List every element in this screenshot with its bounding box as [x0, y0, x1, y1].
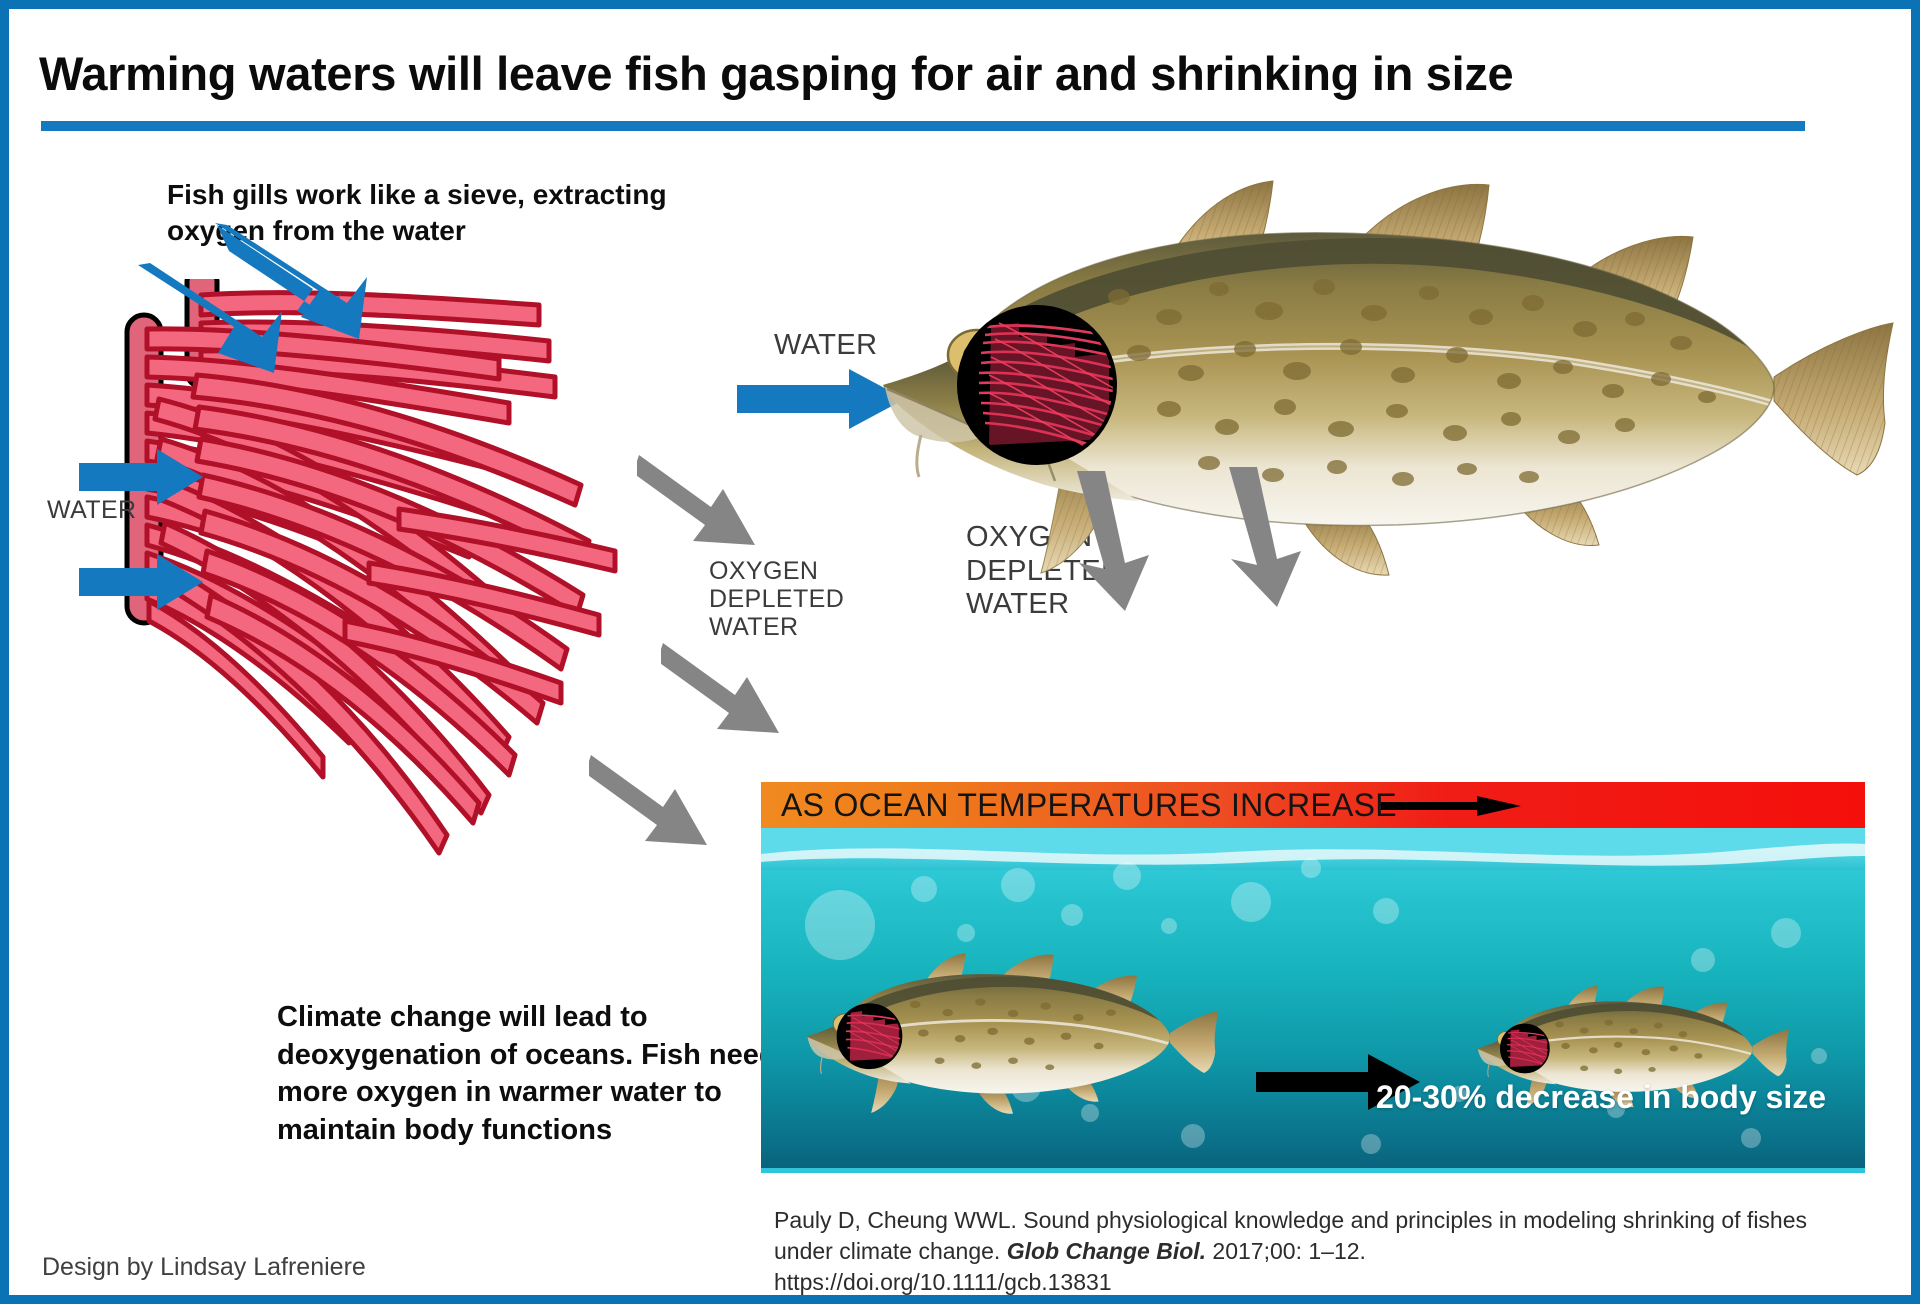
water-in-arrow-upper — [134, 261, 319, 381]
bubble — [1373, 898, 1399, 924]
bubble — [1811, 1048, 1827, 1064]
underwater-scene: 20-30% decrease in body size — [761, 828, 1865, 1173]
fish-oxygen-depleted-arrow-1 — [1067, 471, 1187, 611]
citation-part2: 2017;00: 1–12. — [1206, 1238, 1366, 1264]
design-credit: Design by Lindsay Lafreniere — [42, 1253, 366, 1282]
bubble — [1691, 948, 1715, 972]
bubble — [1741, 1128, 1761, 1148]
citation-doi[interactable]: https://doi.org/10.1111/gcb.13831 — [774, 1269, 1112, 1295]
water-label-left: WATER — [47, 496, 137, 524]
temperature-banner: AS OCEAN TEMPERATURES INCREASE — [761, 782, 1865, 828]
citation-block: Pauly D, Cheung WWL. Sound physiological… — [774, 1205, 1864, 1297]
temperature-banner-text: AS OCEAN TEMPERATURES INCREASE — [781, 787, 1397, 824]
atlantic-cod-large — [801, 938, 1221, 1128]
odw-diagram-line2: DEPLETED — [709, 585, 844, 613]
gill-filaments-main — [147, 329, 615, 853]
bubble — [1771, 918, 1801, 948]
bubble — [1361, 1134, 1381, 1154]
oxygen-depleted-water-label-diagram: OXYGEN DEPLETED WATER — [709, 557, 844, 641]
bubble — [1301, 858, 1321, 878]
fish-oxygen-depleted-arrow-2 — [1219, 467, 1339, 607]
odw-diagram-line3: WATER — [709, 613, 844, 641]
water-in-arrow-low — [79, 554, 204, 610]
page-title: Warming waters will leave fish gasping f… — [39, 49, 1849, 98]
gill-callout-filaments — [979, 323, 1115, 453]
body-size-decrease-text: 20-30% decrease in body size — [1361, 1078, 1841, 1117]
oxygen-depleted-arrow-2 — [661, 637, 786, 747]
water-label-to-fish: WATER — [774, 329, 878, 361]
bubble — [1113, 862, 1141, 890]
right-arrow-icon — [1381, 796, 1521, 816]
bubble — [1061, 904, 1083, 926]
atlantic-cod-illustration — [869, 177, 1899, 577]
infographic-canvas: Warming waters will leave fish gasping f… — [0, 0, 1920, 1304]
gill-callout-circle — [959, 307, 1115, 463]
cod-tail-fin — [1774, 323, 1893, 475]
odw-diagram-line1: OXYGEN — [709, 557, 844, 585]
bubble — [1161, 918, 1177, 934]
bubble — [911, 876, 937, 902]
bubble — [1231, 882, 1271, 922]
ocean-temperature-panel: AS OCEAN TEMPERATURES INCREASE — [761, 782, 1865, 1173]
panel-bottom-edge — [761, 1168, 1865, 1173]
climate-change-note: Climate change will lead to deoxygenatio… — [277, 999, 777, 1150]
bubble — [1001, 868, 1035, 902]
citation-journal: Glob Change Biol. — [1007, 1238, 1206, 1264]
oxygen-depleted-arrow-1 — [637, 449, 762, 559]
oxygen-depleted-arrow-3 — [589, 749, 714, 859]
title-underline-rule — [41, 121, 1805, 131]
